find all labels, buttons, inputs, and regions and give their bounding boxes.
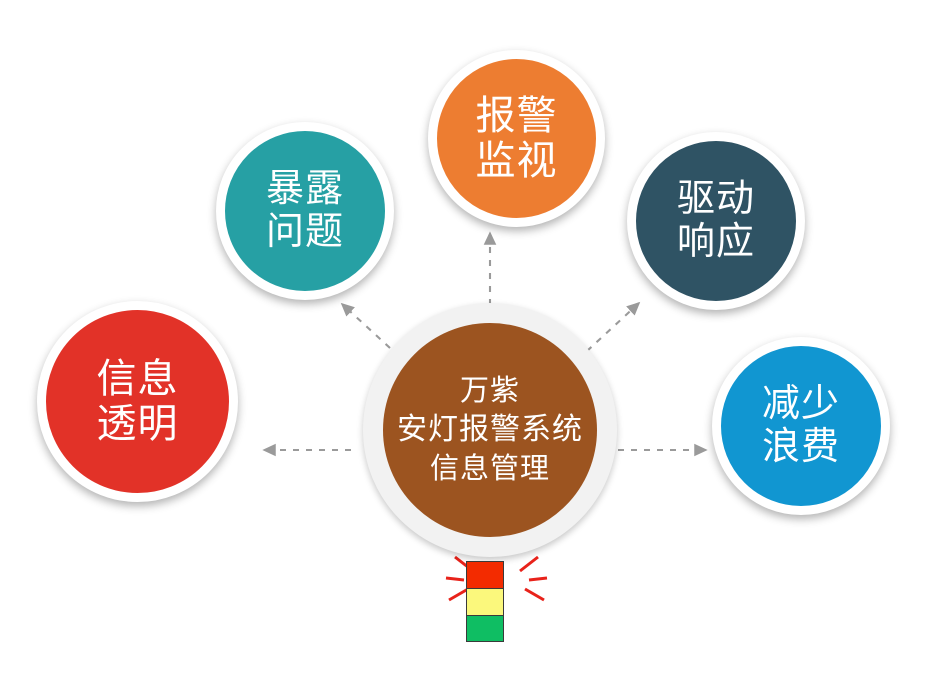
hub-label-line-3: 信息管理: [430, 450, 550, 488]
node-expose-problem-label-line-2: 问题: [266, 211, 344, 254]
node-alarm-monitor[interactable]: 报警 监视: [428, 50, 605, 227]
node-alarm-monitor-label-line-2: 监视: [476, 139, 558, 184]
node-reduce-waste[interactable]: 减少 浪费: [712, 337, 890, 515]
node-drive-response-label-line-1: 驱动: [677, 178, 755, 221]
node-expose-problem-label-line-1: 暴露: [266, 168, 344, 211]
node-information-transparency-label-line-2: 透明: [97, 402, 179, 447]
andon-lamp-red-icon: [466, 561, 504, 588]
hub-node-andon-system[interactable]: 万紫 安灯报警系统 信息管理: [383, 323, 597, 537]
hub-label-line-1: 万紫: [460, 372, 520, 410]
andon-lamp-yellow-icon: [466, 588, 504, 615]
node-drive-response[interactable]: 驱动 响应: [627, 132, 805, 310]
andon-lamp-green-icon: [466, 615, 504, 642]
node-expose-problem[interactable]: 暴露 问题: [216, 122, 394, 300]
andon-light-tower-icon: [466, 561, 504, 642]
node-reduce-waste-label-line-2: 浪费: [762, 426, 840, 469]
node-information-transparency[interactable]: 信息 透明: [37, 301, 238, 502]
hub-label-line-2: 安灯报警系统: [397, 410, 583, 450]
node-reduce-waste-label-line-1: 减少: [762, 383, 840, 426]
andon-system-diagram: 万紫 安灯报警系统 信息管理 报警 监视 暴露 问题 驱动 响应 信息 透明 减…: [0, 0, 939, 680]
node-drive-response-label-line-2: 响应: [677, 221, 755, 264]
node-alarm-monitor-label-line-1: 报警: [476, 94, 558, 139]
connector-hub-to-expose-problem: [342, 304, 390, 348]
node-information-transparency-label-line-1: 信息: [97, 357, 179, 402]
connector-hub-to-drive-response: [587, 303, 639, 351]
